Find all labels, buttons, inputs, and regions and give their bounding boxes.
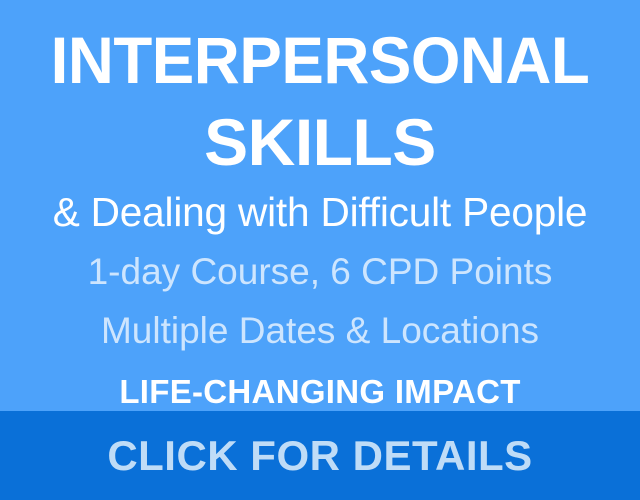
headline-line-2: SKILLS bbox=[8, 109, 632, 175]
cta-button[interactable]: CLICK FOR DETAILS bbox=[0, 411, 640, 500]
advertisement-banner[interactable]: INTERPERSONAL SKILLS & Dealing with Diff… bbox=[0, 0, 640, 500]
ad-detail-course-info: 1-day Course, 6 CPD Points bbox=[8, 253, 632, 290]
ad-subtitle: & Dealing with Difficult People bbox=[11, 192, 629, 233]
ad-content-block: INTERPERSONAL SKILLS & Dealing with Diff… bbox=[0, 0, 640, 411]
ad-kicker-tagline: LIFE-CHANGING IMPACT bbox=[8, 375, 632, 408]
cta-button-label: CLICK FOR DETAILS bbox=[107, 435, 532, 477]
headline-line-1: INTERPERSONAL bbox=[19, 27, 621, 93]
ad-detail-dates-locations: Multiple Dates & Locations bbox=[8, 312, 632, 349]
